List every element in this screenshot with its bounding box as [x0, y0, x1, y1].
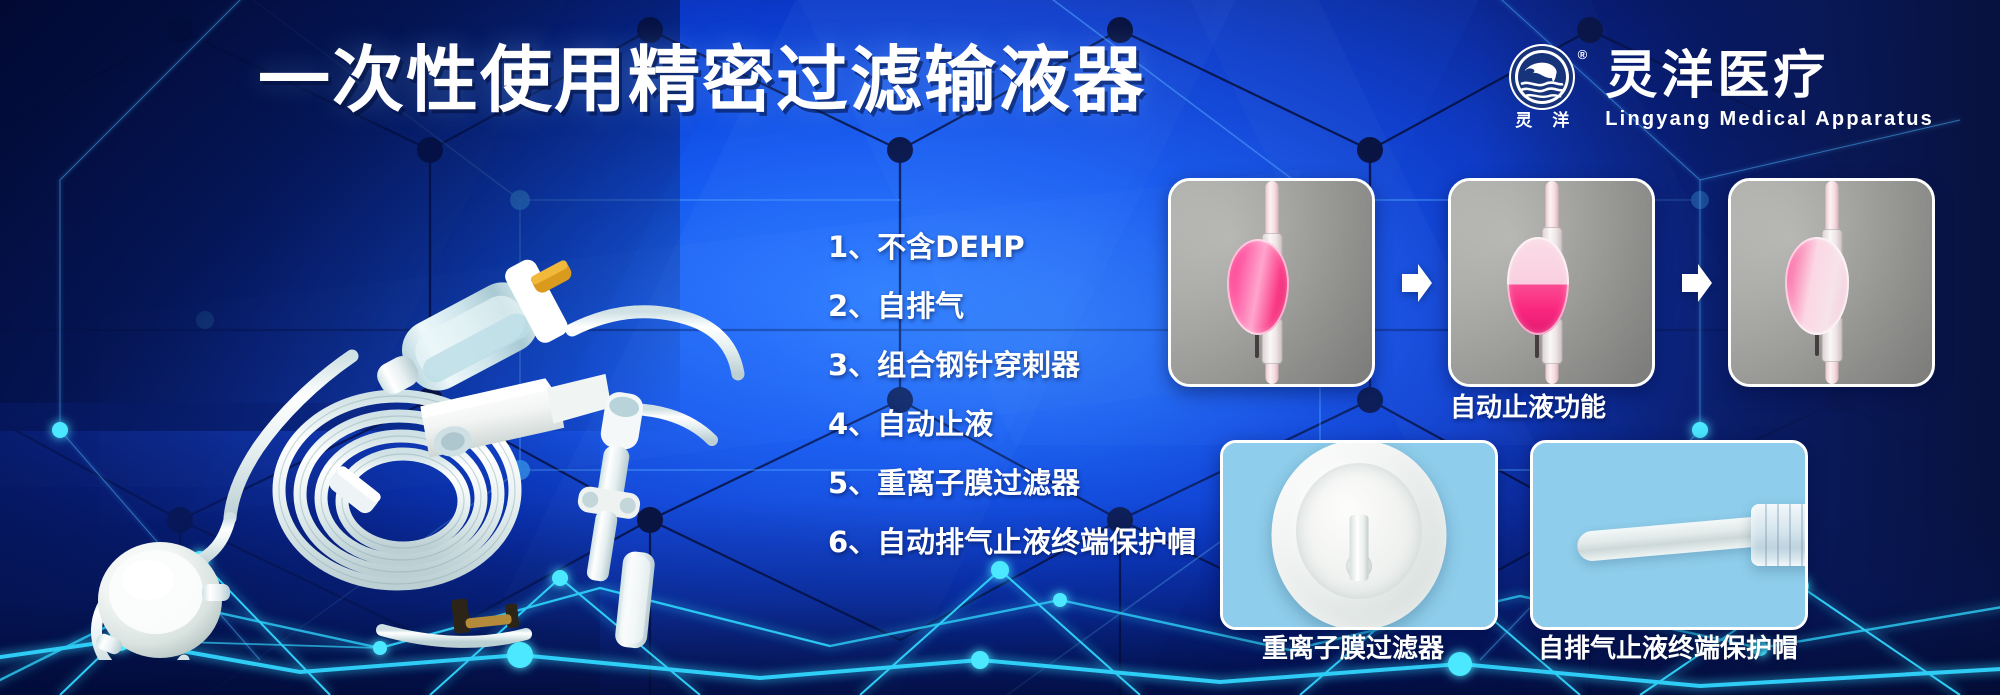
part-card-filter: [1220, 440, 1498, 630]
auto-stop-caption: 自动止液功能: [1450, 395, 1606, 421]
feature-item: 2、自排气: [828, 277, 1196, 336]
product-photo: [52, 160, 752, 660]
logo-char-right: 洋: [1552, 113, 1569, 130]
company-logo: ® 灵 洋: [1499, 44, 1585, 136]
feature-item: 1、不含DEHP: [828, 218, 1196, 277]
auto-stop-step-card: [1728, 178, 1935, 387]
logo-char-left: 灵: [1515, 113, 1532, 130]
part-caption-end-cap: 自排气止液终端保护帽: [1538, 636, 1798, 662]
auto-stop-step-card: [1448, 178, 1655, 387]
wave-fish-circle-icon: [1509, 44, 1575, 110]
brand-lockup: ® 灵 洋 灵洋医疗 Lingyang Medical Apparatus: [1499, 44, 1934, 136]
feature-list: 1、不含DEHP 2、自排气 3、组合钢针穿刺器 4、自动止液 5、重离子膜过滤…: [828, 218, 1196, 572]
feature-item: 3、组合钢针穿刺器: [828, 336, 1196, 395]
promo-banner: 一次性使用精密过滤输液器 ® 灵 洋: [0, 0, 2000, 695]
brand-name-cn: 灵洋医疗: [1605, 49, 1934, 104]
feature-item: 6、自动排气止液终端保护帽: [828, 513, 1196, 572]
arrow-right-icon: [1680, 262, 1714, 304]
feature-item: 4、自动止液: [828, 395, 1196, 454]
part-caption-filter: 重离子膜过滤器: [1262, 636, 1444, 662]
banner-title: 一次性使用精密过滤输液器: [258, 44, 1146, 116]
arrow-right-icon: [1400, 262, 1434, 304]
part-card-end-cap: [1530, 440, 1808, 630]
brand-name-en: Lingyang Medical Apparatus: [1605, 107, 1934, 131]
feature-item: 5、重离子膜过滤器: [828, 454, 1196, 513]
registered-trademark-icon: ®: [1578, 48, 1588, 61]
auto-stop-step-card: [1168, 178, 1375, 387]
